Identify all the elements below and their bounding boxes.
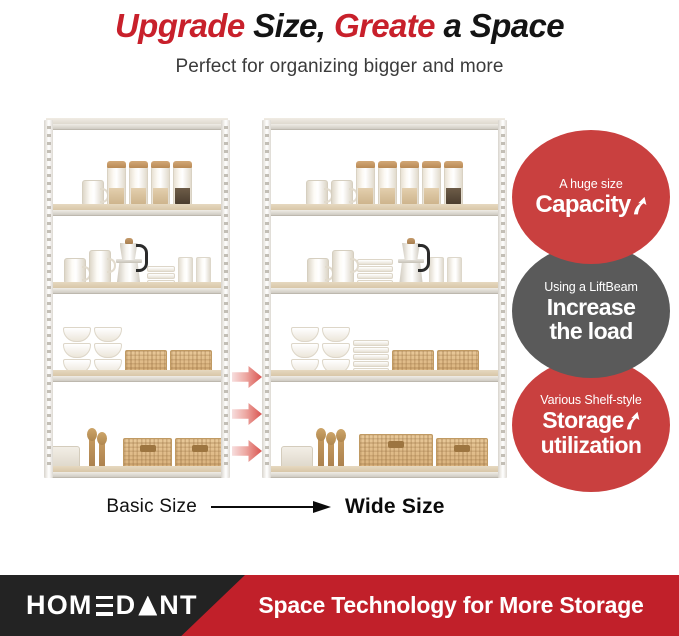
page-subtitle: Perfect for organizing bigger and more [0,46,679,79]
moka-pot [396,236,426,286]
badge-main: Increase [547,295,636,319]
badge-kicker: Various Shelf-style [540,393,641,408]
shelf-goods-jars [50,126,224,208]
wicker-basket [359,434,433,470]
badge-main-text-2: the load [549,319,632,343]
shelf-post-right [498,120,507,478]
shelf-board [264,282,505,293]
shelf-board-bottom [46,466,228,477]
product-marketing-image: Upgrade Size, Greate a Space Perfect for… [0,0,679,636]
brand-text-part-2: D [116,590,137,621]
shelf-unit-basic [44,118,230,478]
badge-main-second-line: the load [549,319,632,343]
ceramic-mug [332,250,354,286]
shelf-board [46,118,228,129]
caption-wide-size: Wide Size [345,495,445,519]
bowl-stack [291,327,319,374]
glass-jar [444,166,463,208]
shelf-post-right [221,120,230,478]
headline-segment-2: Size, [245,7,334,44]
badge-load: Using a LiftBeam Increase the load [512,244,670,378]
red-right-arrow-icon [232,365,262,389]
headline-segment-4: a Space [435,7,564,44]
glass-jar [422,166,441,208]
page-title: Upgrade Size, Greate a Space [0,0,679,46]
shelf-post-left [44,120,53,478]
curved-up-arrow-icon [625,410,640,430]
shelf-post-left [262,120,271,478]
badge-main-second-line: utilization [541,433,642,458]
shelf-goods-jars [268,126,501,208]
badge-main: Storage [542,408,639,433]
feature-badges: A huge size Capacity Using a LiftBeam In… [512,130,679,492]
shelf-board [264,370,505,381]
shelf-goods-mugs [50,210,224,286]
glass-jar [129,166,148,208]
shelf-goods-bowls [268,288,501,374]
badge-storage: Various Shelf-style Storage utilization [512,358,670,492]
glass-jar [107,166,126,208]
shelf-goods-baskets [50,376,224,470]
plate-stack [353,340,389,374]
footer-tagline: Space Technology for More Storage [236,575,666,636]
brand-glyph-a-icon [138,596,157,616]
bowl-stack [322,327,350,374]
badge-capacity: A huge size Capacity [512,130,670,264]
shelf-goods-baskets [268,376,501,470]
right-arrow-icon [211,501,331,513]
headline-segment-3: Greate [334,7,435,44]
badge-main-text: Increase [547,295,636,319]
badge-main: Capacity [535,192,646,217]
footer-bar: HOM D NT Space Technology for More Stora… [0,575,679,636]
glass-jar [400,166,419,208]
shelf-board [46,204,228,215]
brand-text-part-3: NT [159,590,197,621]
shelf-unit-wide [262,118,507,478]
header: Upgrade Size, Greate a Space Perfect for… [0,0,679,79]
glass-jar [378,166,397,208]
headline-segment-1: Upgrade [115,7,245,44]
badge-main-text: Storage [542,408,623,433]
badge-kicker: Using a LiftBeam [544,280,638,295]
wooden-spoons [83,424,120,470]
size-caption: Basic Size Wide Size [44,492,507,522]
shelf-board [46,282,228,293]
shelf-goods-bowls [50,288,224,374]
badge-kicker: A huge size [559,177,623,192]
red-right-arrow-icon [232,402,262,426]
transition-arrows [232,365,262,463]
brand-text-part-1: HOM [26,590,93,621]
ceramic-mug [89,250,111,286]
glass-jar [173,166,192,208]
moka-pot [114,236,144,286]
shelf-board-bottom [264,466,505,477]
caption-basic-size: Basic Size [106,496,197,518]
brand-glyph-e-icon [96,596,113,616]
shelf-board [264,118,505,129]
glass-jar [356,166,375,208]
wooden-spoons [316,424,356,470]
red-right-arrow-icon [232,439,262,463]
badge-main-text-2: utilization [541,433,642,458]
shelf-board [46,370,228,381]
badge-main-text: Capacity [535,192,630,217]
brand-logo: HOM D NT [26,575,198,636]
bowl-stack [63,327,91,374]
glass-jar [151,166,170,208]
shelf-goods-mugs [268,210,501,286]
curved-up-arrow-icon [632,195,647,215]
bowl-stack [94,327,122,374]
shelf-board [264,204,505,215]
